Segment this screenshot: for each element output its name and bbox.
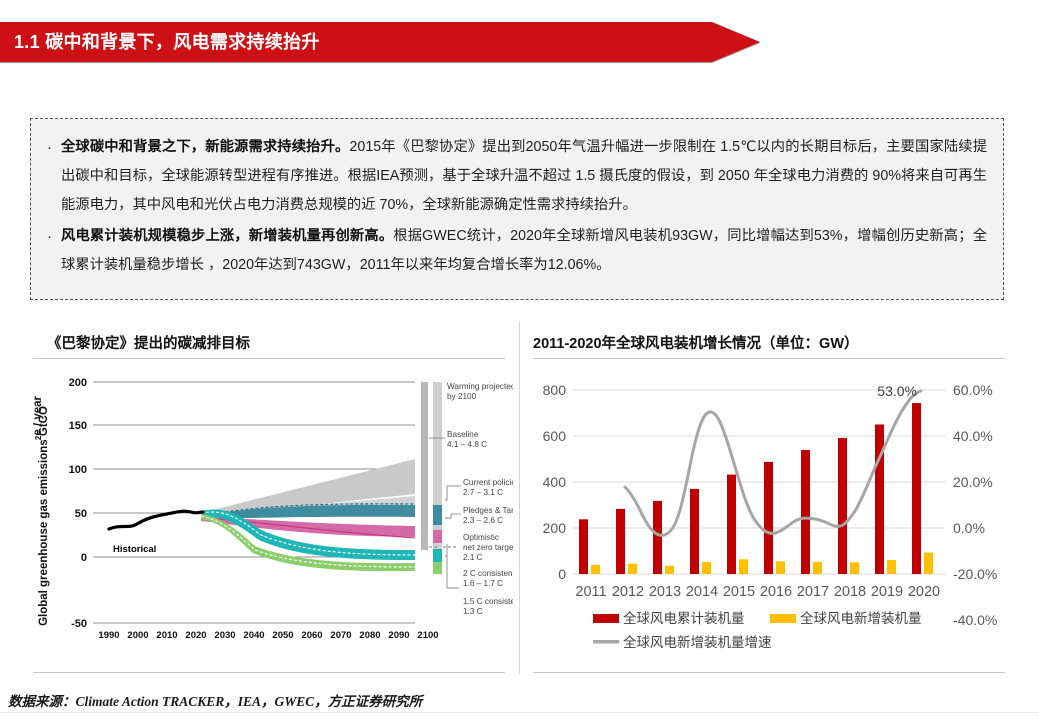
svg-text:100: 100 [69,464,87,476]
svg-text:Baseline: Baseline [447,430,479,439]
bullet-item: · 全球碳中和背景之下，新能源需求持续抬升。2015年《巴黎协定》提出到2050… [47,133,987,220]
svg-text:800: 800 [543,382,567,398]
warming-marker-15c [433,562,442,574]
svg-text:2018: 2018 [834,584,866,600]
legend-swatch-cumulative [593,614,619,623]
bullet-lead-1: 全球碳中和背景之下，新能源需求持续抬升。 [61,139,349,155]
warming-marker-pledges [433,505,442,525]
svg-text:2013: 2013 [649,584,681,600]
bullet-text-2: 风电累计装机规模稳步上涨，新增装机量再创新高。根据GWEC统计，2020年全球新… [61,222,987,280]
key-points-callout: · 全球碳中和背景之下，新能源需求持续抬升。2015年《巴黎协定》提出到2050… [30,118,1004,300]
bar-series-cumulative [579,403,921,574]
left-y-axis-label-suffix: 2e / year [33,395,44,440]
global-wind-capacity-chart: 800 600 400 200 0 60.0% 40.0% 20.0% 0.0%… [525,366,1010,666]
right-chart-legend: 全球风电累计装机量 全球风电新增装机量 全球风电新增装机量增速 [593,610,922,650]
bullet-marker: · [47,222,61,251]
svg-text:20.0%: 20.0% [953,474,993,490]
svg-text:2017: 2017 [797,584,829,600]
svg-text:0: 0 [558,566,566,582]
svg-text:1.3 C: 1.3 C [463,607,483,616]
svg-text:Current policies: Current policies [463,478,513,487]
svg-text:2000: 2000 [127,630,148,641]
svg-text:net zero targets: net zero targets [463,543,513,552]
historical-label: Historical [113,544,156,555]
left-x-ticks: 1990 2000 2010 2020 2030 2040 2050 2060 … [98,630,438,641]
svg-text:2020: 2020 [185,630,206,641]
svg-text:2.3 – 2.6 C: 2.3 – 2.6 C [463,516,503,525]
svg-text:2014: 2014 [686,584,718,600]
svg-text:2016: 2016 [760,584,792,600]
svg-text:2090: 2090 [388,630,409,641]
svg-text:2030: 2030 [214,630,235,641]
paris-agreement-chart: Global greenhouse gas emissions GtCO 2e … [33,366,513,666]
svg-text:-50: -50 [71,618,87,630]
svg-text:2010: 2010 [156,630,177,641]
slide-title-banner: 1.1 碳中和背景下，风电需求持续抬升 [0,22,760,62]
svg-text:2012: 2012 [612,584,644,600]
right-gridlines [573,390,945,574]
legend-label-growth-rate: 全球风电新增装机量增速 [623,634,772,650]
warming-marker-2c [433,549,442,562]
svg-text:2 C consistent: 2 C consistent [463,569,513,578]
bullet-text-1: 全球碳中和背景之下，新能源需求持续抬升。2015年《巴黎协定》提出到2050年气… [61,133,987,220]
svg-text:2040: 2040 [243,630,264,641]
right-y-axis-right-ticks: 60.0% 40.0% 20.0% 0.0% -20.0% -40.0% [953,382,997,628]
svg-text:200: 200 [69,377,87,389]
svg-text:2080: 2080 [359,630,380,641]
warming-bar-outer [421,382,428,550]
svg-text:2020: 2020 [908,584,940,600]
legend-swatch-new-installs [770,614,796,623]
svg-text:400: 400 [543,474,567,490]
panel-vertical-divider [519,322,520,674]
bullet-lead-2: 风电累计装机规模稳步上涨，新增装机量再创新高。 [61,228,393,244]
svg-text:2050: 2050 [272,630,293,641]
divider-right-bottom [533,672,1005,673]
svg-text:Pledges & Targets: Pledges & Targets [463,506,513,515]
svg-text:-20.0%: -20.0% [953,566,997,582]
svg-text:4.1 – 4.8 C: 4.1 – 4.8 C [447,440,487,449]
svg-text:1.6 – 1.7 C: 1.6 – 1.7 C [463,579,503,588]
svg-text:Optimistic: Optimistic [463,533,499,542]
svg-text:2011: 2011 [575,584,606,600]
svg-text:-40.0%: -40.0% [953,612,997,628]
left-chart-title: 《巴黎协定》提出的碳减排目标 [47,332,250,353]
bullet-item: · 风电累计装机规模稳步上涨，新增装机量再创新高。根据GWEC统计，2020年全… [47,222,987,280]
svg-text:2.7 – 3.1 C: 2.7 – 3.1 C [463,488,503,497]
svg-text:0.0%: 0.0% [953,520,985,536]
data-label-2020-growth: 53.0% [877,383,917,399]
svg-text:by 2100: by 2100 [447,392,477,401]
left-chart-legend: Warming projected by 2100 Baseline 4.1 –… [447,382,513,616]
svg-text:1990: 1990 [98,630,119,641]
svg-text:0: 0 [81,552,87,564]
page-title: 1.1 碳中和背景下，风电需求持续抬升 [14,22,320,62]
divider-left-top [33,358,505,359]
historical-line [109,511,203,529]
svg-text:2015: 2015 [723,584,755,600]
svg-text:150: 150 [69,420,87,432]
warming-marker-optimistic [433,530,442,543]
svg-text:Warming projected: Warming projected [447,382,513,391]
svg-text:40.0%: 40.0% [953,428,993,444]
svg-text:60.0%: 60.0% [953,382,993,398]
svg-text:2019: 2019 [871,584,903,600]
legend-label-cumulative: 全球风电累计装机量 [623,610,745,626]
svg-text:50: 50 [75,508,87,520]
svg-text:2070: 2070 [330,630,351,641]
svg-text:200: 200 [543,520,567,536]
right-x-ticks: 2011 2012 2013 2014 2015 2016 2017 2018 … [575,584,940,600]
right-chart-title: 2011-2020年全球风电装机增长情况（单位：GW） [533,332,859,353]
svg-text:1.5 C consistent: 1.5 C consistent [463,597,513,606]
divider-left-bottom [33,672,505,673]
footer-rule [0,712,1039,713]
svg-text:2060: 2060 [301,630,322,641]
legend-label-new-installs: 全球风电新增装机量 [800,610,922,626]
divider-right-top [533,358,1005,359]
legend-swatch-growth-rate [593,640,619,644]
svg-text:600: 600 [543,428,567,444]
svg-text:2.1 C: 2.1 C [463,553,483,562]
svg-text:2100: 2100 [417,630,438,641]
left-y-ticks: 200 150 100 50 0 -50 [69,377,87,630]
bullet-marker: · [47,133,61,162]
right-y-axis-left-ticks: 800 600 400 200 0 [543,382,567,582]
source-note: 数据来源：Climate Action TRACKER，IEA，GWEC，方正证… [8,690,422,710]
